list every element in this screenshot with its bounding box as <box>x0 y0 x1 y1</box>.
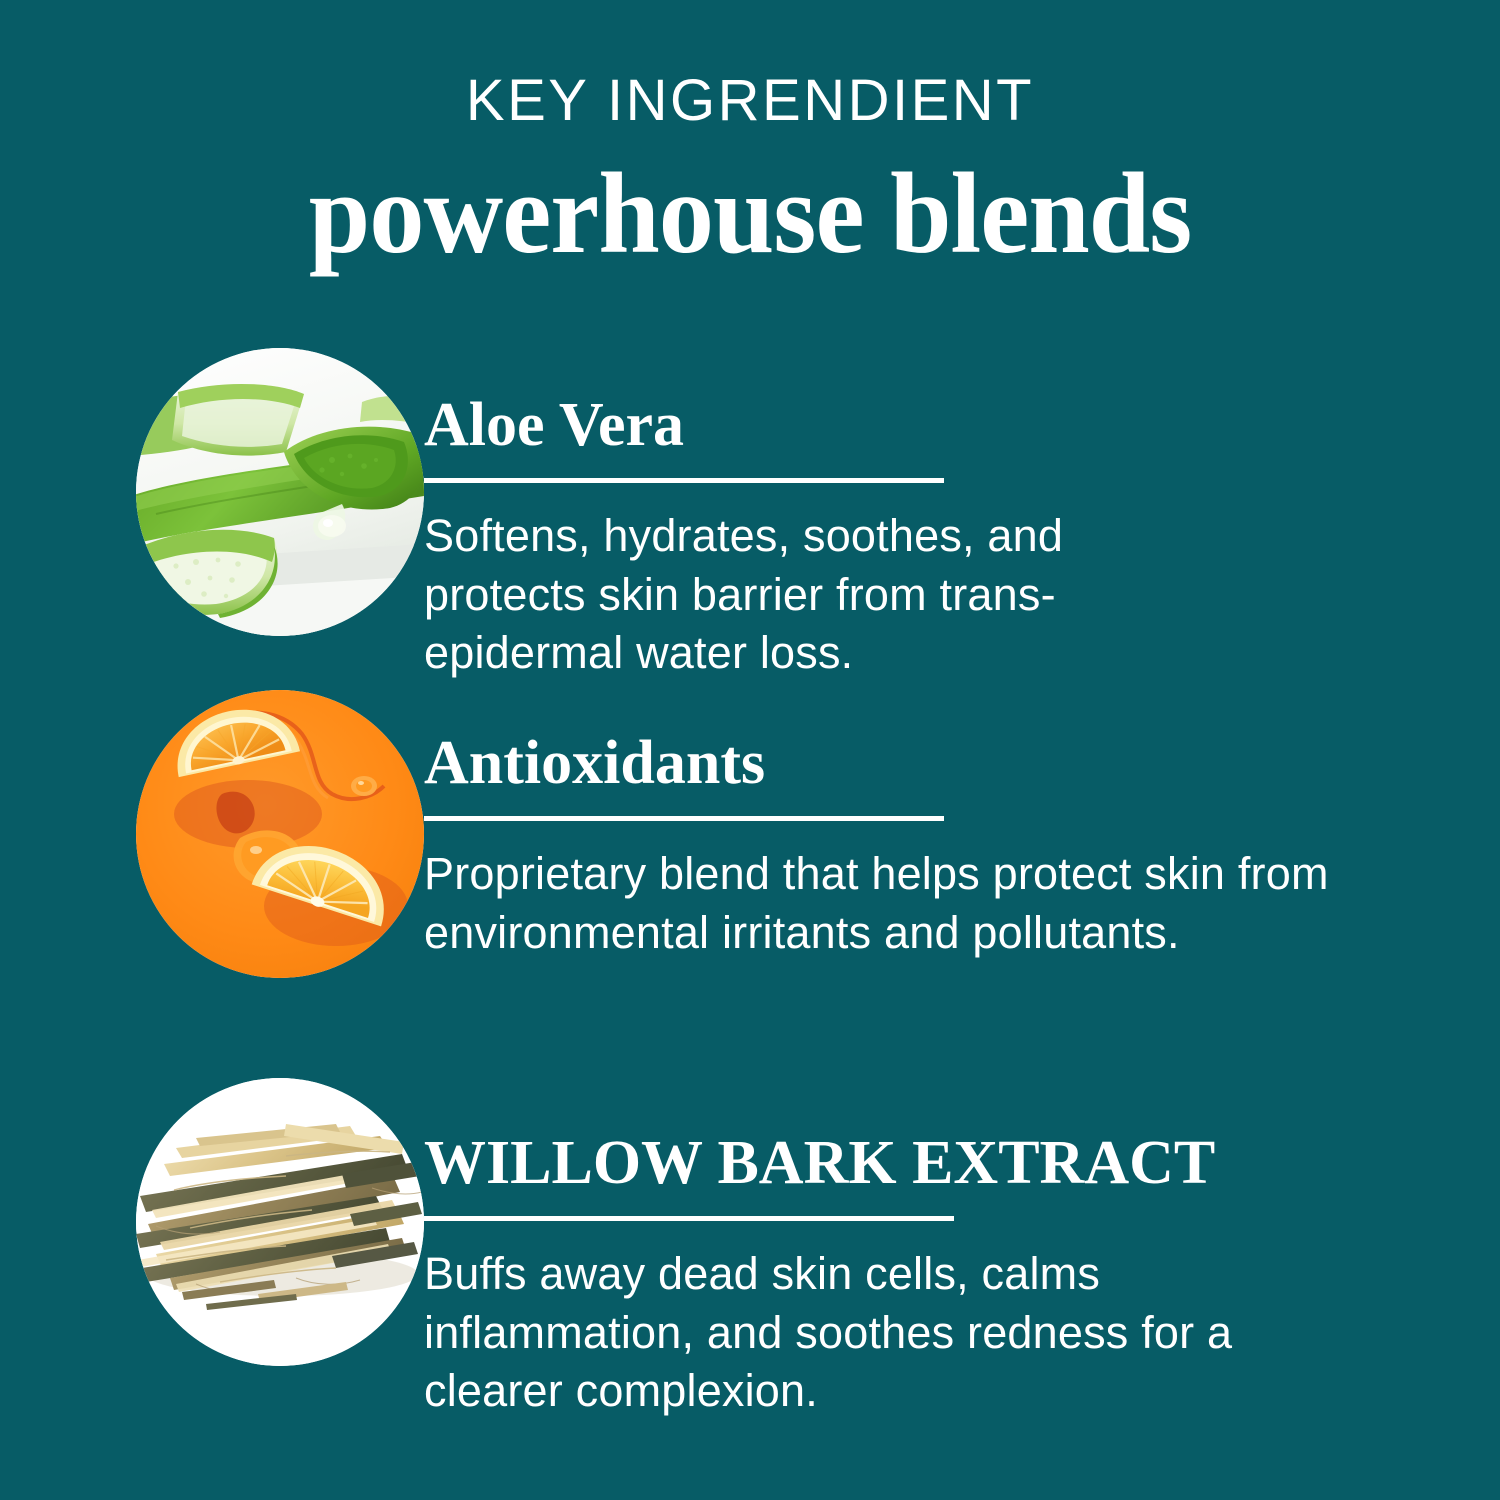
willow-bark-photo <box>136 1078 424 1366</box>
aloe-vera-photo <box>136 348 424 636</box>
ingredient-row-antioxidants: Antioxidants Proprietary blend that help… <box>0 690 1500 990</box>
ingredient-body: Antioxidants Proprietary blend that help… <box>424 690 1424 962</box>
page-header: KEY INGRENDIENT powerhouse blends <box>0 0 1500 271</box>
title-underline-rule <box>424 1216 954 1221</box>
ingredient-description: Softens, hydrates, soothes, and protects… <box>424 507 1194 683</box>
infographic-page: KEY INGRENDIENT powerhouse blends <box>0 0 1500 1500</box>
ingredient-body: Aloe Vera Softens, hydrates, soothes, an… <box>424 348 1424 683</box>
page-title: powerhouse blends <box>30 156 1470 271</box>
citrus-antioxidant-photo <box>136 690 424 978</box>
eyebrow-label: KEY INGRENDIENT <box>0 72 1500 130</box>
ingredient-title: Aloe Vera <box>424 348 1424 456</box>
title-underline-rule <box>424 478 944 483</box>
ingredient-description: Buffs away dead skin cells, calms inflam… <box>424 1245 1364 1421</box>
ingredient-title: Antioxidants <box>424 690 1424 794</box>
title-underline-rule <box>424 816 944 821</box>
ingredient-title: WILLOW BARK EXTRACT <box>424 1078 1424 1194</box>
ingredient-description: Proprietary blend that helps protect ski… <box>424 845 1334 962</box>
ingredient-row-willow-bark: WILLOW BARK EXTRACT Buffs away dead skin… <box>0 1078 1500 1378</box>
ingredient-row-aloe-vera: Aloe Vera Softens, hydrates, soothes, an… <box>0 348 1500 648</box>
ingredient-body: WILLOW BARK EXTRACT Buffs away dead skin… <box>424 1078 1424 1421</box>
